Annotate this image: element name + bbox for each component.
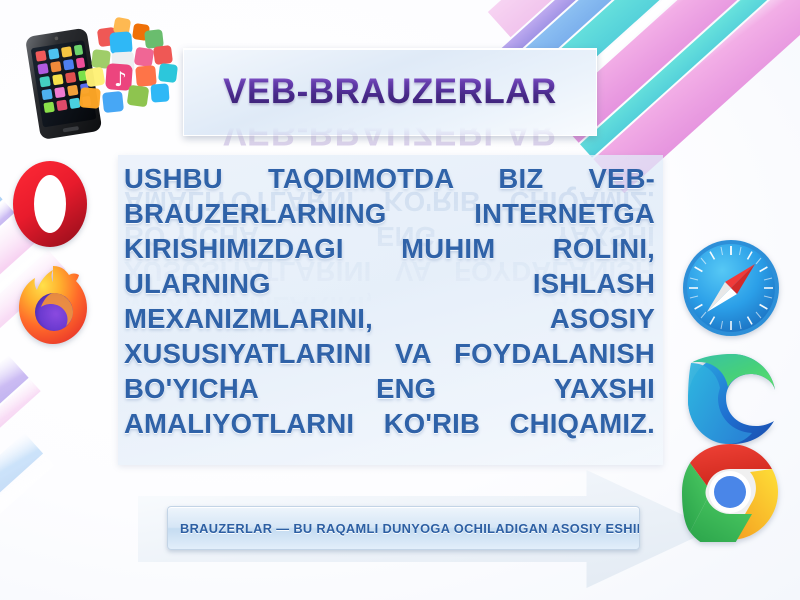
chrome-logo	[680, 442, 780, 547]
body-text: USHBU TAQDIMOTDA BIZ VEB-BRAUZERLARNING …	[124, 161, 655, 441]
firefox-logo	[10, 262, 96, 353]
page-title-reflection: VEB-BRAUZERLAR	[223, 112, 557, 152]
svg-text:♪: ♪	[114, 67, 127, 91]
presentation-slide: ♪ VEB-BRAUZERLAR VEB-BRAUZERLAR USHBU TA…	[0, 0, 800, 600]
banner-text: BRAUZERLAR — BU RAQAMLI DUNYOGA OCHILADI…	[180, 521, 640, 536]
opera-logo	[8, 158, 92, 255]
page-title: VEB-BRAUZERLAR	[223, 72, 557, 112]
slide-title-plaque: VEB-BRAUZERLAR VEB-BRAUZERLAR	[183, 48, 597, 136]
edge-logo	[684, 350, 780, 451]
body-text-panel: USHBU TAQDIMOTDA BIZ VEB-BRAUZERLARNING …	[118, 155, 663, 465]
callout-banner: BRAUZERLAR — BU RAQAMLI DUNYOGA OCHILADI…	[167, 506, 640, 550]
smartphone-apps-illustration: ♪	[14, 2, 194, 142]
safari-logo	[679, 236, 784, 346]
